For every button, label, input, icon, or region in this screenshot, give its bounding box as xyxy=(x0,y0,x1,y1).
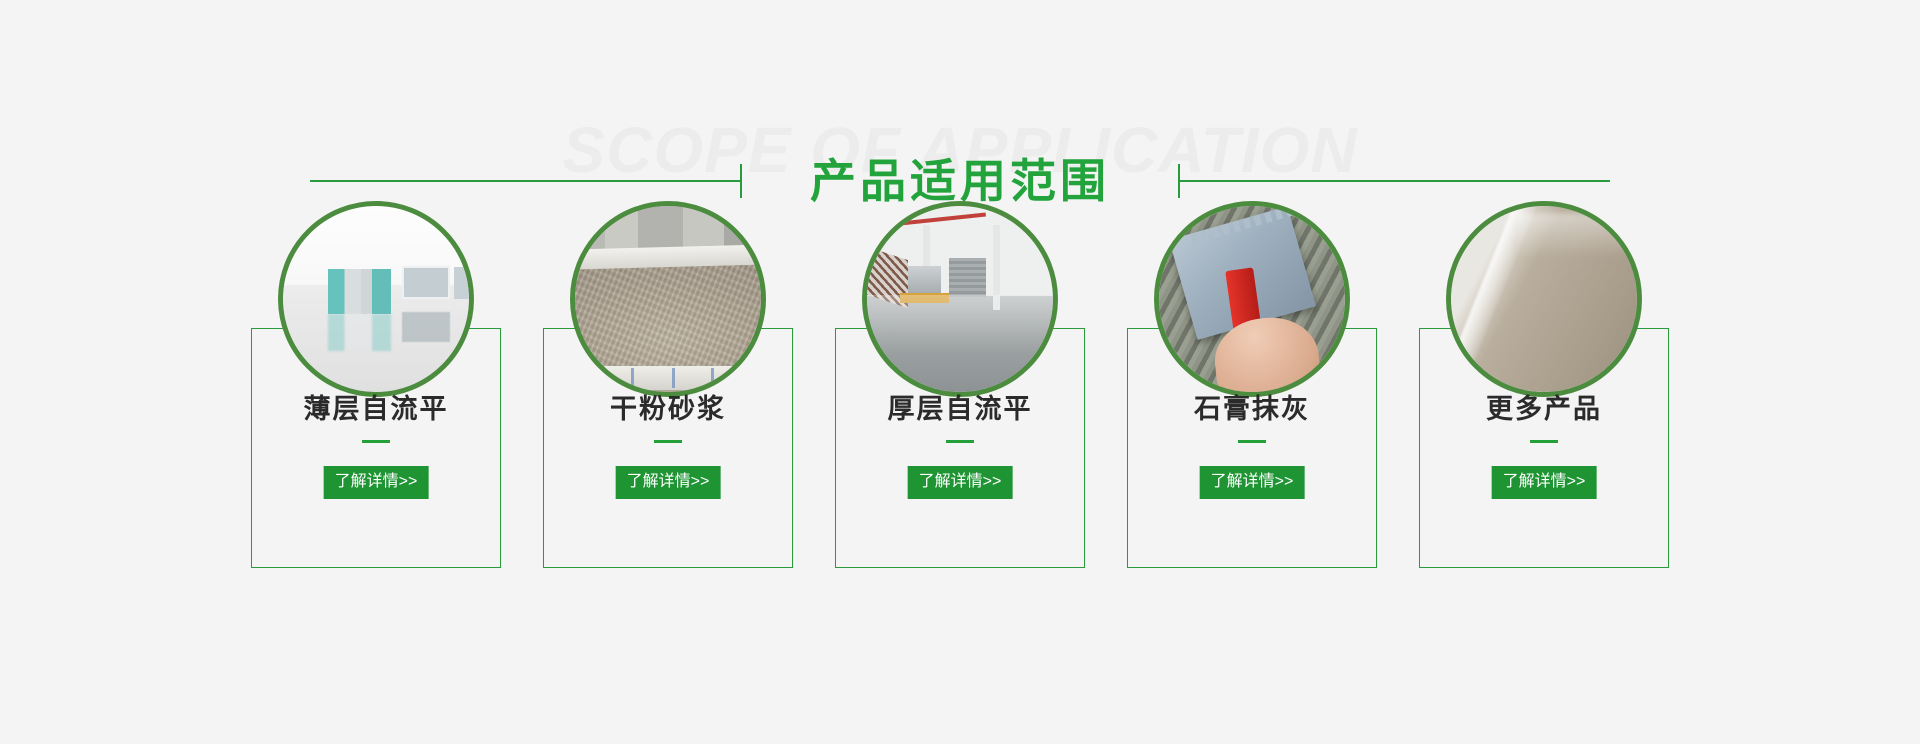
title-gap-right xyxy=(1136,180,1178,182)
card-label: 干粉砂浆 xyxy=(543,396,793,423)
photo-red-beam xyxy=(900,213,985,226)
section-header: SCOPE OF APPLICATION 产品适用范围 xyxy=(0,60,1920,190)
dry-mix-mortar-sand-photo xyxy=(575,206,761,392)
label-underline xyxy=(362,440,390,443)
title-gap-left xyxy=(742,180,784,182)
title-rule-left xyxy=(310,180,740,182)
card-image-circle xyxy=(862,201,1058,397)
card-image-circle xyxy=(570,201,766,397)
photo-bag-stripe xyxy=(672,368,675,388)
glossy-tan-floor-photo xyxy=(1451,206,1637,392)
learn-more-button[interactable]: 了解详情>> xyxy=(616,466,721,499)
label-underline xyxy=(1238,440,1266,443)
scope-of-application-section: SCOPE OF APPLICATION 产品适用范围 xyxy=(0,0,1920,744)
photo-window xyxy=(402,266,450,299)
notched-trowel-plaster-photo xyxy=(1159,206,1345,392)
product-card-gypsum-plaster[interactable]: 石膏抹灰 了解详情>> xyxy=(1127,268,1377,568)
photo-roller-shutter xyxy=(949,258,986,297)
learn-more-button[interactable]: 了解详情>> xyxy=(1200,466,1305,499)
card-image-circle xyxy=(1446,201,1642,397)
photo-highlight xyxy=(1518,213,1626,258)
label-underline xyxy=(1530,440,1558,443)
learn-more-button[interactable]: 了解详情>> xyxy=(324,466,429,499)
photo-bag-bottom xyxy=(570,366,766,390)
product-card-list: 薄层自流平 了解详情>> 干粉砂浆 了解详情>> xyxy=(0,268,1920,568)
page-title: 产品适用范围 xyxy=(784,158,1136,204)
card-label: 薄层自流平 xyxy=(251,396,501,423)
photo-door xyxy=(328,269,391,314)
product-card-dry-mix-mortar[interactable]: 干粉砂浆 了解详情>> xyxy=(543,268,793,568)
card-label: 更多产品 xyxy=(1419,396,1669,423)
title-rule-right xyxy=(1180,180,1610,182)
photo-door-reflection xyxy=(328,314,391,351)
product-card-thick-self-leveling[interactable]: 厚层自流平 了解详情>> xyxy=(835,268,1085,568)
product-card-more-products[interactable]: 更多产品 了解详情>> xyxy=(1419,268,1669,568)
photo-bag-stripe xyxy=(711,368,714,388)
learn-more-button[interactable]: 了解详情>> xyxy=(908,466,1013,499)
label-underline xyxy=(654,440,682,443)
photo-bag-stripe xyxy=(631,368,634,388)
card-image-circle xyxy=(278,201,474,397)
photo-window-right xyxy=(454,267,474,299)
cleanroom-epoxy-floor-photo xyxy=(283,206,469,392)
title-row: 产品适用范围 xyxy=(0,158,1920,204)
product-card-thin-self-leveling[interactable]: 薄层自流平 了解详情>> xyxy=(251,268,501,568)
card-label: 石膏抹灰 xyxy=(1127,396,1377,423)
label-underline xyxy=(946,440,974,443)
card-label: 厚层自流平 xyxy=(835,396,1085,423)
photo-window-reflection xyxy=(402,312,450,342)
learn-more-button[interactable]: 了解详情>> xyxy=(1492,466,1597,499)
card-image-circle xyxy=(1154,201,1350,397)
photo-sand-texture xyxy=(575,254,761,369)
photo-floor-sheen xyxy=(867,295,1053,392)
warehouse-grey-floor-photo xyxy=(867,206,1053,392)
